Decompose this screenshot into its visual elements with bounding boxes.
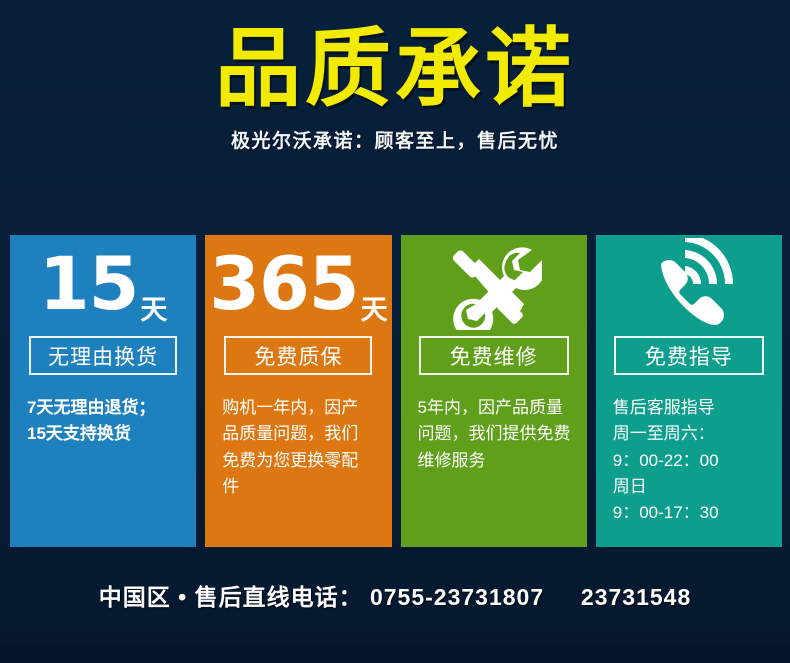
card-body-guidance: 售后客服指导 周一至周六： 9：00-22：00 周日 9：00-17：30	[610, 395, 768, 527]
body-line: 9：00-22：00	[613, 448, 765, 474]
body-line: 5年内，因产品质量	[418, 395, 570, 421]
promise-card-warranty[interactable]: 365 天 免费质保 购机一年内，因产 品质量问题，我们 免费为您更换零配 件	[205, 235, 391, 547]
status-badge-return: 无理由换货	[29, 336, 177, 375]
body-line: 维修服务	[418, 448, 570, 474]
footer-phone-primary[interactable]: 0755-23731807	[370, 584, 544, 610]
wrench-screwdriver-icon	[415, 235, 573, 333]
banner-header: 品质承诺 极光尔沃承诺：顾客至上，售后无忧	[0, 0, 790, 153]
card-body-return: 7天无理由退货； 15天支持换货	[24, 395, 182, 446]
headline-15-days: 15 天	[24, 235, 182, 333]
card-body-warranty: 购机一年内，因产 品质量问题，我们 免费为您更换零配 件	[219, 395, 377, 500]
body-line: 7天无理由退货；	[27, 395, 179, 421]
headline-365-days: 365 天	[219, 235, 377, 333]
body-line: 周一至周六：	[613, 421, 765, 447]
footer-phone-secondary[interactable]: 23731548	[581, 584, 691, 610]
promise-card-list: 15 天 无理由换货 7天无理由退货； 15天支持换货 365 天 免费质保 购…	[10, 235, 782, 547]
status-badge-guidance: 免费指导	[614, 336, 764, 375]
body-line: 15天支持换货	[27, 421, 179, 447]
footer-hotline-label: 售后直线电话：	[195, 584, 363, 610]
body-line: 购机一年内，因产	[222, 395, 374, 421]
body-line: 问题，我们提供免费	[418, 421, 570, 447]
quality-promise-banner: 品质承诺 极光尔沃承诺：顾客至上，售后无忧 15 天 无理由换货 7天无理由退货…	[0, 0, 790, 663]
headline-number: 365	[209, 248, 358, 321]
card-body-repair: 5年内，因产品质量 问题，我们提供免费 维修服务	[415, 395, 573, 474]
body-line: 免费为您更换零配	[222, 448, 374, 474]
bullet-separator-icon: •	[178, 584, 187, 610]
body-line: 9：00-17：30	[613, 500, 765, 526]
headline-number: 15	[39, 248, 139, 321]
body-line: 售后客服指导	[613, 395, 765, 421]
body-line: 品质量问题，我们	[222, 421, 374, 447]
page-title: 品质承诺	[0, 26, 790, 114]
footer-hotline: 中国区 • 售后直线电话： 0755-23731807 23731548	[0, 578, 790, 612]
page-subtitle: 极光尔沃承诺：顾客至上，售后无忧	[0, 126, 790, 153]
promise-card-return[interactable]: 15 天 无理由换货 7天无理由退货； 15天支持换货	[10, 235, 196, 547]
promise-card-repair[interactable]: 免费维修 5年内，因产品质量 问题，我们提供免费 维修服务	[401, 235, 587, 547]
phone-signal-icon	[610, 235, 768, 333]
body-line: 周日	[613, 474, 765, 500]
bottom-band	[0, 645, 790, 663]
promise-card-guidance[interactable]: 免费指导 售后客服指导 周一至周六： 9：00-22：00 周日 9：00-17…	[596, 235, 782, 547]
status-badge-repair: 免费维修	[419, 336, 569, 375]
footer-region-label: 中国区	[99, 584, 171, 610]
headline-unit: 天	[138, 297, 167, 333]
body-line: 件	[222, 474, 374, 500]
status-badge-warranty: 免费质保	[224, 336, 372, 375]
headline-unit: 天	[359, 297, 388, 333]
